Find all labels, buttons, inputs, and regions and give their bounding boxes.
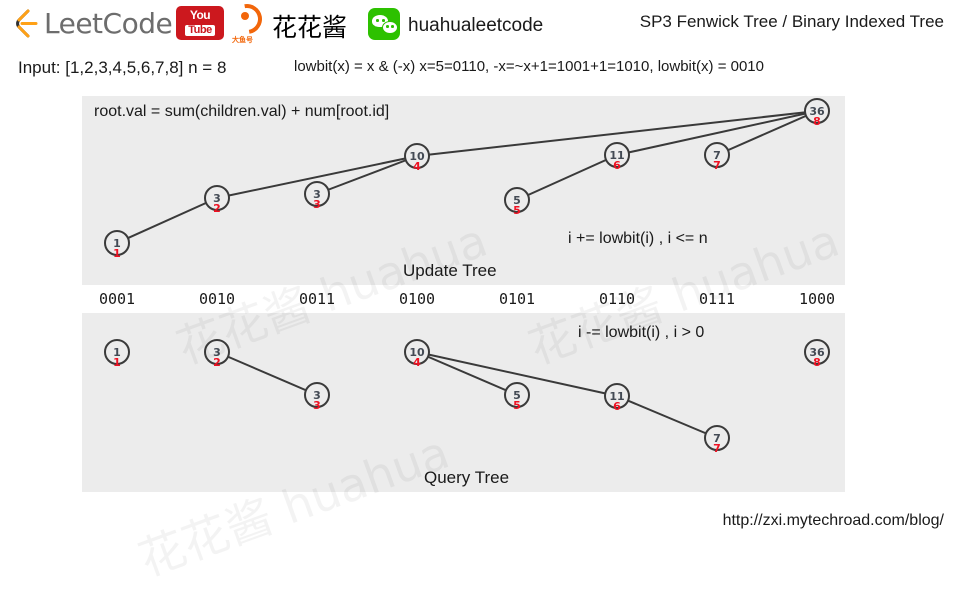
tree-node-id: 2 (213, 356, 221, 369)
tree-node[interactable]: 77 (704, 425, 730, 451)
tree-node-id: 3 (313, 399, 321, 412)
tree-node-id: 8 (813, 115, 821, 128)
root-val-formula-label: root.val = sum(children.val) + num[root.… (94, 103, 389, 121)
youtube-logo-icon[interactable]: You Tube (176, 6, 224, 40)
tree-node[interactable]: 104 (404, 143, 430, 169)
binary-index-label: 1000 (799, 290, 835, 308)
input-array-label: Input: [1,2,3,4,5,6,7,8] n = 8 (18, 58, 226, 78)
tree-node[interactable]: 116 (604, 142, 630, 168)
binary-index-label: 0101 (499, 290, 535, 308)
tree-node[interactable]: 55 (504, 187, 530, 213)
query-tree-caption: Query Tree (424, 468, 509, 488)
tree-node-id: 7 (713, 442, 721, 455)
tree-node[interactable]: 33 (304, 181, 330, 207)
binary-index-label: 0110 (599, 290, 635, 308)
wechat-eye-4 (391, 25, 394, 28)
leetcode-mark-svg (14, 8, 40, 38)
update-tree-edges (82, 96, 845, 285)
tree-node[interactable]: 32 (204, 185, 230, 211)
slide-title: SP3 Fenwick Tree / Binary Indexed Tree (640, 12, 944, 32)
tree-node[interactable]: 11 (104, 230, 130, 256)
info-row: Input: [1,2,3,4,5,6,7,8] n = 8 lowbit(x)… (0, 58, 960, 84)
dayuhao-logo-icon[interactable]: 大鱼号 (232, 4, 266, 46)
tree-node-id: 1 (113, 356, 121, 369)
youtube-logo-tube: Tube (185, 25, 214, 36)
leetcode-logo-icon (14, 8, 40, 38)
wechat-handle: huahualeetcode (408, 15, 543, 37)
tree-node-id: 6 (613, 400, 621, 413)
wechat-eye-2 (382, 19, 385, 22)
query-loop-note: i -= lowbit(i) , i > 0 (578, 324, 704, 342)
query-tree-panel: 1132331045511677368 (82, 313, 845, 492)
tree-node[interactable]: 77 (704, 142, 730, 168)
youtube-logo-you: You (176, 9, 224, 21)
tree-node[interactable]: 33 (304, 382, 330, 408)
query-tree-edges (82, 313, 845, 492)
leetcode-logo-text: LeetCode (44, 7, 172, 40)
dayuhao-dot (241, 12, 249, 20)
tree-edge (517, 155, 617, 200)
dayuhao-logo-caption: 大鱼号 (232, 35, 253, 45)
wechat-bubble-small (382, 21, 398, 34)
leetcode-logo: LeetCode (14, 6, 172, 40)
tree-node[interactable]: 104 (404, 339, 430, 365)
binary-index-label: 0001 (99, 290, 135, 308)
tree-node-id: 4 (413, 160, 421, 173)
tree-node-id: 8 (813, 356, 821, 369)
footer-url: http://zxi.mytechroad.com/blog/ (723, 512, 944, 530)
tree-node[interactable]: 368 (804, 98, 830, 124)
wechat-logo-icon[interactable] (368, 8, 400, 40)
tree-edge (617, 396, 717, 438)
tree-node-id: 2 (213, 202, 221, 215)
tree-node-id: 4 (413, 356, 421, 369)
binary-index-label: 0111 (699, 290, 735, 308)
tree-edge (317, 156, 417, 194)
update-tree-panel: 1132331045511677368 (82, 96, 845, 285)
binary-index-label: 0011 (299, 290, 335, 308)
tree-node-id: 6 (613, 159, 621, 172)
tree-node-id: 5 (513, 399, 521, 412)
header-bar: LeetCode You Tube 大鱼号 花花酱 huahualeetcode… (0, 0, 960, 48)
dayuhao-ring (226, 0, 268, 40)
binary-index-label: 0100 (399, 290, 435, 308)
tree-node-id: 5 (513, 204, 521, 217)
tree-node[interactable]: 32 (204, 339, 230, 365)
tree-edge (117, 198, 217, 243)
binary-index-label: 0010 (199, 290, 235, 308)
tree-node-id: 1 (113, 247, 121, 260)
update-tree-caption: Update Tree (403, 261, 497, 281)
wechat-eye-3 (386, 25, 389, 28)
binary-index-row: 00010010001101000101011001111000 (82, 290, 845, 312)
tree-edge (417, 352, 517, 395)
tree-node[interactable]: 55 (504, 382, 530, 408)
lowbit-formula-label: lowbit(x) = x & (-x) x=5=0110, -x=~x+1=1… (294, 58, 764, 75)
tree-node[interactable]: 368 (804, 339, 830, 365)
tree-node-id: 7 (713, 159, 721, 172)
brand-name-cn: 花花酱 (272, 8, 347, 44)
tree-edge (217, 352, 317, 395)
wechat-eye-1 (376, 19, 379, 22)
update-loop-note: i += lowbit(i) , i <= n (568, 230, 708, 248)
tree-node-id: 3 (313, 198, 321, 211)
tree-node[interactable]: 11 (104, 339, 130, 365)
tree-node[interactable]: 116 (604, 383, 630, 409)
